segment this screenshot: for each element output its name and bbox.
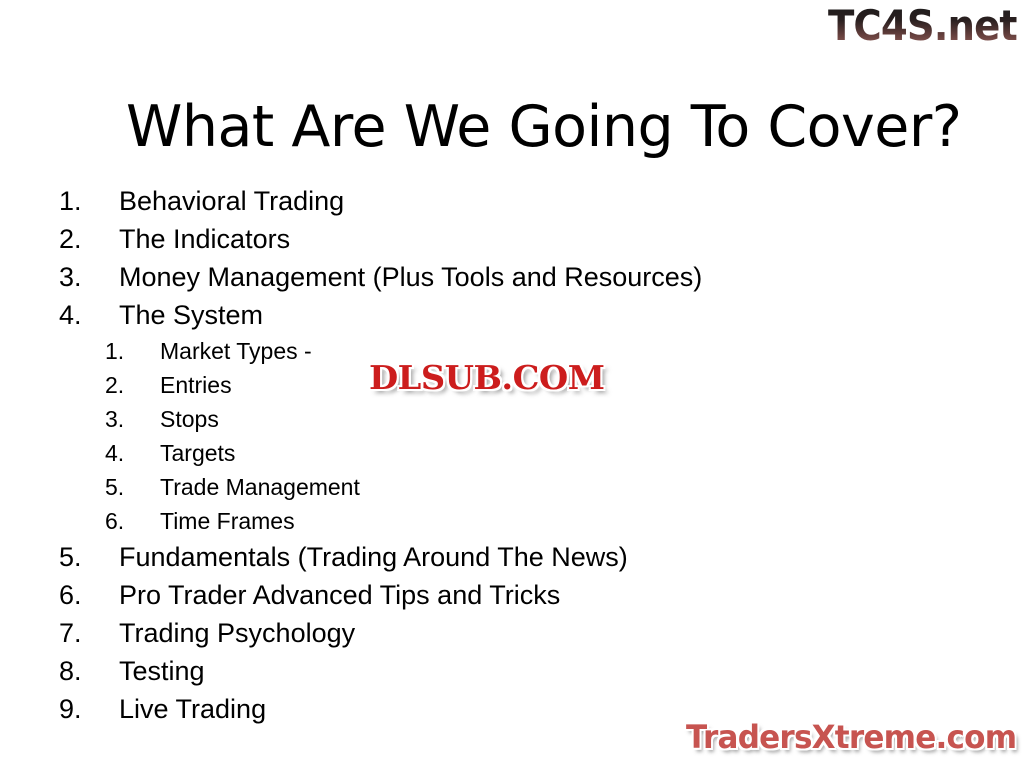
sub-list-item: 5. Trade Management (0, 470, 1024, 504)
sub-list-item-number: 1. (105, 334, 147, 368)
list-item: 8. Testing (0, 652, 1024, 690)
sub-list-item-number: 3. (105, 402, 147, 436)
list-item-number: 5. (59, 538, 105, 576)
list-item: 5. Fundamentals (Trading Around The News… (0, 538, 1024, 576)
page-title: What Are We Going To Cover? (126, 96, 926, 158)
list-item-number: 7. (59, 614, 105, 652)
list-item: 2. The Indicators (0, 220, 1024, 258)
sub-list-item-label: Trade Management (160, 470, 360, 504)
list-item-label: The Indicators (119, 220, 290, 258)
sub-list-item-number: 4. (105, 436, 147, 470)
list-item: 6. Pro Trader Advanced Tips and Tricks (0, 576, 1024, 614)
sub-list-item: 3. Stops (0, 402, 1024, 436)
list-item-label: Money Management (Plus Tools and Resourc… (119, 258, 702, 296)
watermark-tc4s: TC4S.net (828, 2, 1017, 50)
list-item: 1. Behavioral Trading (0, 182, 1024, 220)
sub-list-item-label: Stops (160, 402, 219, 436)
sub-list-item: 4. Targets (0, 436, 1024, 470)
list-item-number: 6. (59, 576, 105, 614)
sub-list-item-label: Entries (160, 368, 232, 402)
sub-list-item-label: Targets (160, 436, 235, 470)
sub-list-item-number: 2. (105, 368, 147, 402)
list-item-number: 2. (59, 220, 105, 258)
list-item: 7. Trading Psychology (0, 614, 1024, 652)
slide-canvas: TC4S.net What Are We Going To Cover? 1. … (0, 0, 1024, 768)
list-item-number: 8. (59, 652, 105, 690)
sub-list-item: 6. Time Frames (0, 504, 1024, 538)
list-item-label: Trading Psychology (119, 614, 355, 652)
list-item-number: 3. (59, 258, 105, 296)
list-item-label: Testing (119, 652, 205, 690)
list-item-label: The System (119, 296, 263, 334)
list-item-label: Fundamentals (Trading Around The News) (119, 538, 628, 576)
list-item-label: Live Trading (119, 690, 266, 728)
sub-list-item-number: 5. (105, 470, 147, 504)
list-item-label: Pro Trader Advanced Tips and Tricks (119, 576, 560, 614)
list-item-number: 4. (59, 296, 105, 334)
list-item: 3. Money Management (Plus Tools and Reso… (0, 258, 1024, 296)
watermark-dlsub: DLSUB.COM (369, 358, 604, 398)
sub-list-item-label: Market Types - (160, 334, 312, 368)
watermark-tradersxtreme: TradersXtreme.com (686, 717, 1016, 757)
list-item: 4. The System (0, 296, 1024, 334)
list-item-number: 1. (59, 182, 105, 220)
sub-list-item-number: 6. (105, 504, 147, 538)
sub-list-item-label: Time Frames (160, 504, 295, 538)
list-item-number: 9. (59, 690, 105, 728)
list-item-label: Behavioral Trading (119, 182, 344, 220)
outline-list: 1. Behavioral Trading 2. The Indicators … (0, 182, 1024, 728)
